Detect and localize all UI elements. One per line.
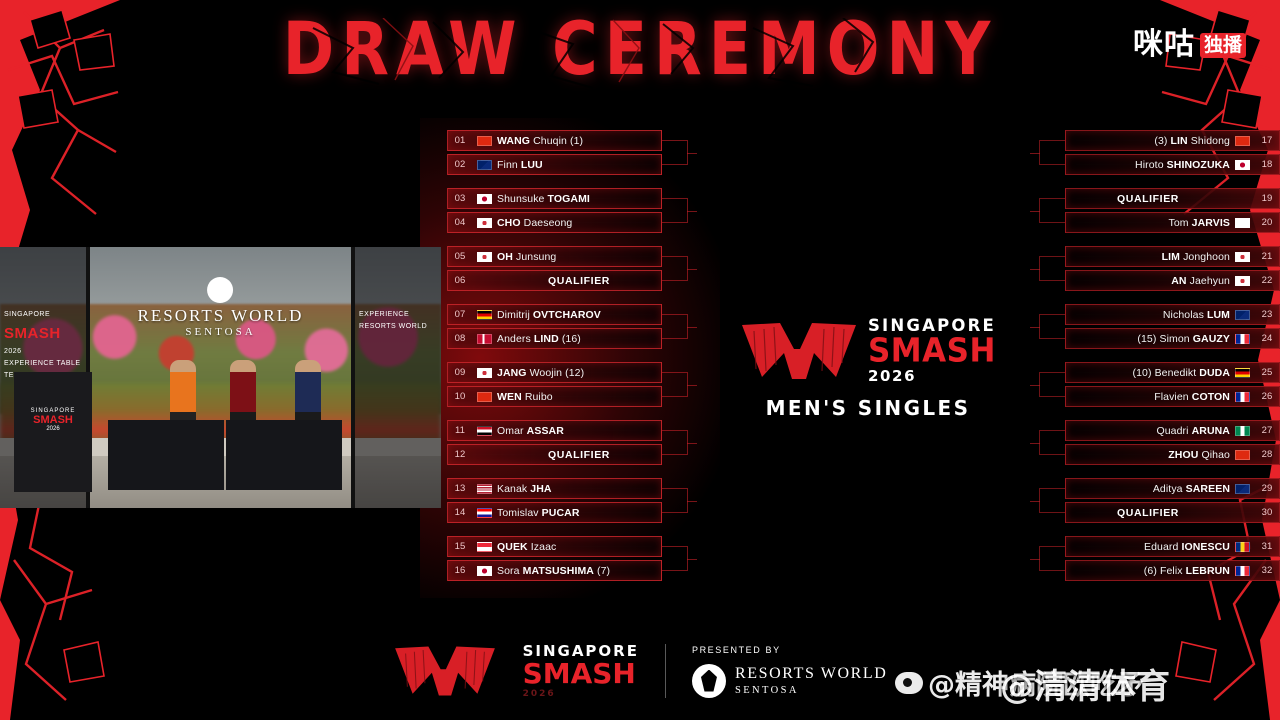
video-right-banner: EXPERIENCE RESORTS WORLD	[351, 247, 441, 508]
flag-icon	[1235, 276, 1250, 286]
flag-icon	[477, 194, 492, 204]
bracket-entry-name: Tom JARVIS	[1066, 217, 1230, 229]
flag-icon	[477, 252, 492, 262]
bracket-entry[interactable]: 15QUEK Izaac	[447, 536, 662, 557]
bracket-connector	[1039, 198, 1065, 223]
bracket-entry-name: Finn LUU	[497, 159, 661, 171]
bracket-entry-number: 10	[448, 391, 472, 402]
bracket-entry[interactable]: 06QUALIFIER	[447, 270, 662, 291]
bracket-entry-name: Nicholas LUM	[1066, 309, 1230, 321]
bracket-connector	[662, 488, 688, 513]
bracket-entry[interactable]: 29Aditya SAREEN	[1065, 478, 1280, 499]
bracket-pair: 21LIM Jonghoon22AN Jaehyun	[1065, 246, 1280, 291]
bracket-pair: 13Kanak JHA14Tomislav PUCAR	[447, 478, 662, 523]
bracket-pair: 03Shunsuke TOGAMI04CHO Daeseong	[447, 188, 662, 233]
smash-wing-mark-icon	[740, 319, 858, 383]
bracket-pair: 07Dimitrij OVTCHAROV08Anders LIND (16)	[447, 304, 662, 349]
bracket-entry-number: 15	[448, 541, 472, 552]
bracket-entry-number: 02	[448, 159, 472, 170]
bracket-entry[interactable]: 25(10) Benedikt DUDA	[1065, 362, 1280, 383]
bracket-entry-name: (15) Simon GAUZY	[1066, 333, 1230, 345]
bracket-entry[interactable]: 26Flavien COTON	[1065, 386, 1280, 407]
flag-icon	[1235, 252, 1250, 262]
bracket-entry-name: (10) Benedikt DUDA	[1066, 367, 1230, 379]
flag-icon	[477, 542, 492, 552]
flag-icon	[477, 218, 492, 228]
bracket-connector	[662, 256, 688, 281]
flag-icon	[1235, 136, 1250, 146]
video-backdrop-brand-line1: RESORTS WORLD	[138, 306, 304, 326]
bracket-entry[interactable]: 18Hiroto SHINOZUKA	[1065, 154, 1280, 175]
video-backdrop-brand-line2: SENTOSA	[138, 326, 304, 338]
bracket-connector-stub	[1030, 211, 1040, 212]
bracket-pair: 17(3) LIN Shidong18Hiroto SHINOZUKA	[1065, 130, 1280, 175]
flag-icon	[1235, 542, 1250, 552]
bracket-entry-number: 25	[1255, 367, 1279, 378]
footer-divider	[665, 644, 666, 698]
bracket-entry[interactable]: 16Sora MATSUSHIMA (7)	[447, 560, 662, 581]
bracket-entry-number: 23	[1255, 309, 1279, 320]
bracket-entry-name: QUEK Izaac	[497, 541, 661, 553]
bracket-connector	[1039, 314, 1065, 339]
bracket-connector	[1039, 488, 1065, 513]
bracket-entry-number: 21	[1255, 251, 1279, 262]
bracket-pair: 09JANG Woojin (12)10WEN Ruibo	[447, 362, 662, 407]
bracket-connector-stub	[687, 443, 697, 444]
bracket-entry-number: 24	[1255, 333, 1279, 344]
event-category-label: MEN'S SINGLES	[728, 396, 1008, 420]
flag-icon	[477, 426, 492, 436]
bracket-entry[interactable]: 09JANG Woojin (12)	[447, 362, 662, 383]
bracket-entry-name: Anders LIND (16)	[497, 333, 661, 345]
bracket-entry-number: 32	[1255, 565, 1279, 576]
bracket-entry[interactable]: 10WEN Ruibo	[447, 386, 662, 407]
bracket-connector	[662, 198, 688, 223]
bracket-connector	[662, 372, 688, 397]
bracket-entry[interactable]: 31Eduard IONESCU	[1065, 536, 1280, 557]
bracket-entry-name: Flavien COTON	[1066, 391, 1230, 403]
bracket-entry[interactable]: 11Omar ASSAR	[447, 420, 662, 441]
footer-brand-year: 2026	[523, 690, 639, 699]
bracket-entry[interactable]: 07Dimitrij OVTCHAROV	[447, 304, 662, 325]
bracket-connector-stub	[1030, 327, 1040, 328]
bracket-connector-stub	[1030, 385, 1040, 386]
bracket-pair: 27Quadri ARUNA28ZHOU Qihao	[1065, 420, 1280, 465]
resorts-world-icon	[692, 664, 726, 698]
bracket-entry[interactable]: 03Shunsuke TOGAMI	[447, 188, 662, 209]
bracket-entry-name: QUALIFIER	[497, 275, 661, 287]
presented-by-label: PRESENTED BY	[692, 645, 887, 655]
flag-icon	[477, 368, 492, 378]
flag-icon	[1235, 392, 1250, 402]
flag-icon	[1235, 218, 1250, 228]
bracket-entry[interactable]: 17(3) LIN Shidong	[1065, 130, 1280, 151]
bracket-connector-stub	[687, 327, 697, 328]
bracket-entry[interactable]: 12QUALIFIER	[447, 444, 662, 465]
page-title: DRAW CEREMONY	[283, 12, 998, 85]
weibo-icon	[895, 672, 923, 694]
live-video-inset[interactable]: RESORTS WORLD SENTOSA SINGAPORE SMASH 20…	[0, 247, 441, 508]
bracket-entry-number: 20	[1255, 217, 1279, 228]
bracket-pair: 31Eduard IONESCU32(6) Felix LEBRUN	[1065, 536, 1280, 581]
bracket-entry-number: 09	[448, 367, 472, 378]
bracket-entry-number: 11	[448, 425, 472, 436]
bracket-entry-name: CHO Daeseong	[497, 217, 661, 229]
bracket-entry-name: QUALIFIER	[1066, 193, 1230, 205]
flag-icon	[1235, 566, 1250, 576]
flag-icon	[1235, 334, 1250, 344]
bracket-entry[interactable]: 08Anders LIND (16)	[447, 328, 662, 349]
bracket-entry[interactable]: 04CHO Daeseong	[447, 212, 662, 233]
bracket-connector-stub	[1030, 153, 1040, 154]
footer-brand-words: SINGAPORE SMASH 2026	[523, 644, 639, 699]
bracket-entry-name: AN Jaehyun	[1066, 275, 1230, 287]
footer-smash-wing-icon	[393, 643, 497, 699]
bracket-entry-number: 04	[448, 217, 472, 228]
flag-icon	[1235, 426, 1250, 436]
bracket-entry-name: Dimitrij OVTCHAROV	[497, 309, 661, 321]
sponsor-line1: RESORTS WORLD	[735, 665, 887, 683]
bracket-entry-number: 31	[1255, 541, 1279, 552]
bracket-entry-name: WEN Ruibo	[497, 391, 661, 403]
broadcaster-logo: 咪咕 独播	[1133, 30, 1246, 60]
bracket-connector-stub	[687, 269, 697, 270]
bracket-entry-name: Hiroto SHINOZUKA	[1066, 159, 1230, 171]
bracket-entry-name: Shunsuke TOGAMI	[497, 193, 661, 205]
footer-sponsor-block: PRESENTED BY RESORTS WORLD SENTOSA	[692, 645, 887, 698]
bracket-entry[interactable]: 32(6) Felix LEBRUN	[1065, 560, 1280, 581]
broadcaster-exclusive-badge: 独播	[1200, 33, 1246, 58]
bracket-entry[interactable]: 28ZHOU Qihao	[1065, 444, 1280, 465]
video-right-banner-text: EXPERIENCE RESORTS WORLD	[355, 247, 441, 333]
bracket-pair: 15QUEK Izaac16Sora MATSUSHIMA (7)	[447, 536, 662, 581]
broadcaster-name: 咪咕	[1133, 30, 1195, 60]
bracket-entry-number: 07	[448, 309, 472, 320]
video-left-banner-line1: SINGAPORE	[4, 309, 82, 321]
bracket-entry-number: 27	[1255, 425, 1279, 436]
flag-icon	[477, 566, 492, 576]
bracket-connector	[662, 430, 688, 455]
bracket-entry[interactable]: 01WANG Chuqin (1)	[447, 130, 662, 151]
bracket-entry[interactable]: 23Nicholas LUM	[1065, 304, 1280, 325]
bracket-entry-name: JANG Woojin (12)	[497, 367, 661, 379]
bracket-entry-number: 14	[448, 507, 472, 518]
bracket-pair: 19QUALIFIER20Tom JARVIS	[1065, 188, 1280, 233]
bracket-entry-number: 08	[448, 333, 472, 344]
center-logo-year: 2026	[868, 369, 996, 384]
flag-icon	[1235, 160, 1250, 170]
center-event-logo: SINGAPORE SMASH 2026 MEN'S SINGLES	[728, 318, 1008, 420]
bracket-entry[interactable]: 24(15) Simon GAUZY	[1065, 328, 1280, 349]
bracket-side-left: 01WANG Chuqin (1)02Finn LUU03Shunsuke TO…	[447, 130, 662, 584]
bracket-entry[interactable]: 30QUALIFIER	[1065, 502, 1280, 523]
flag-icon	[477, 508, 492, 518]
center-logo-line2: SMASH	[868, 335, 996, 368]
center-logo-words: SINGAPORE SMASH 2026	[868, 318, 996, 384]
flag-icon	[1235, 310, 1250, 320]
bracket-entry[interactable]: 13Kanak JHA	[447, 478, 662, 499]
bracket-entry-number: 01	[448, 135, 472, 146]
bracket-entry-name: QUALIFIER	[1066, 507, 1230, 519]
bracket-entry-name: Kanak JHA	[497, 483, 661, 495]
flag-icon	[477, 392, 492, 402]
bracket-entry[interactable]: 27Quadri ARUNA	[1065, 420, 1280, 441]
bracket-entry-number: 05	[448, 251, 472, 262]
bracket-connector-stub	[687, 385, 697, 386]
bracket-pair: 29Aditya SAREEN30QUALIFIER	[1065, 478, 1280, 523]
bracket-entry-name: Omar ASSAR	[497, 425, 661, 437]
bracket-entry-name: OH Junsung	[497, 251, 661, 263]
bracket-entry-number: 22	[1255, 275, 1279, 286]
bracket-connector-stub	[1030, 559, 1040, 560]
bracket-connector	[1039, 546, 1065, 571]
flag-icon	[1235, 368, 1250, 378]
bracket-entry-number: 03	[448, 193, 472, 204]
video-table-1	[108, 420, 224, 490]
center-logo-top: SINGAPORE SMASH 2026	[728, 318, 1008, 384]
page-title-area: DRAW CEREMONY	[0, 18, 1280, 80]
bracket-connector	[1039, 140, 1065, 165]
bracket-pair: 23Nicholas LUM24(15) Simon GAUZY	[1065, 304, 1280, 349]
bracket-entry-number: 13	[448, 483, 472, 494]
bracket-entry[interactable]: 05OH Junsung	[447, 246, 662, 267]
bracket-entry-name: (3) LIN Shidong	[1066, 135, 1230, 147]
bracket-connector-stub	[687, 211, 697, 212]
bracket-entry[interactable]: 19QUALIFIER	[1065, 188, 1280, 209]
flag-icon	[477, 160, 492, 170]
flag-icon	[477, 484, 492, 494]
bracket-pair: 11Omar ASSAR12QUALIFIER	[447, 420, 662, 465]
bracket-connector-stub	[687, 153, 697, 154]
bracket-entry-name: ZHOU Qihao	[1066, 449, 1230, 461]
bracket-connector	[662, 314, 688, 339]
bracket-connector-stub	[687, 559, 697, 560]
video-podium: SINGAPORE SMASH 2026	[14, 372, 92, 492]
bracket-entry-name: Tomislav PUCAR	[497, 507, 661, 519]
bracket-entry-name: Eduard IONESCU	[1066, 541, 1230, 553]
resorts-world-mark-icon	[207, 277, 233, 303]
bracket-pair: 05OH Junsung06QUALIFIER	[447, 246, 662, 291]
bracket-entry[interactable]: 14Tomislav PUCAR	[447, 502, 662, 523]
bracket-entry-name: QUALIFIER	[497, 449, 661, 461]
bracket-connector-stub	[1030, 501, 1040, 502]
bracket-side-right: 17(3) LIN Shidong18Hiroto SHINOZUKA19QUA…	[1065, 130, 1280, 584]
bracket-entry-number: 12	[448, 449, 472, 460]
bracket-connector	[662, 546, 688, 571]
video-podium-line2: SMASH	[14, 414, 92, 426]
bracket-entry[interactable]: 02Finn LUU	[447, 154, 662, 175]
flag-icon	[477, 310, 492, 320]
sponsor-line2: SENTOSA	[735, 685, 887, 696]
bracket-connector	[1039, 372, 1065, 397]
flag-icon	[477, 136, 492, 146]
video-table-2	[226, 420, 342, 490]
bracket-entry-number: 06	[448, 275, 472, 286]
flag-icon	[1235, 484, 1250, 494]
flag-icon	[477, 334, 492, 344]
bracket-entry-number: 19	[1255, 193, 1279, 204]
bracket-pair: 25(10) Benedikt DUDA26Flavien COTON	[1065, 362, 1280, 407]
bracket-entry-number: 16	[448, 565, 472, 576]
bracket-entry[interactable]: 20Tom JARVIS	[1065, 212, 1280, 233]
bracket-entry-name: WANG Chuqin (1)	[497, 135, 661, 147]
sponsor-logo: RESORTS WORLD SENTOSA	[692, 664, 887, 698]
bracket-connector	[1039, 430, 1065, 455]
toutiao-watermark: @清清体育	[1000, 659, 1170, 708]
bracket-entry-number: 28	[1255, 449, 1279, 460]
video-backdrop-sponsor-logo: RESORTS WORLD SENTOSA	[138, 277, 304, 338]
bracket-entry-name: LIM Jonghoon	[1066, 251, 1230, 263]
bracket-entry-number: 18	[1255, 159, 1279, 170]
footer-brand-line2: SMASH	[523, 660, 639, 688]
bracket-connector-stub	[1030, 443, 1040, 444]
bracket-entry-number: 30	[1255, 507, 1279, 518]
bracket-connector-stub	[687, 501, 697, 502]
bracket-connector	[1039, 256, 1065, 281]
bracket-entry-name: Aditya SAREEN	[1066, 483, 1230, 495]
bracket-pair: 01WANG Chuqin (1)02Finn LUU	[447, 130, 662, 175]
bracket-entry-name: Sora MATSUSHIMA (7)	[497, 565, 661, 577]
video-podium-line3: 2026	[14, 426, 92, 432]
bracket-entry[interactable]: 22AN Jaehyun	[1065, 270, 1280, 291]
bracket-connector-stub	[1030, 269, 1040, 270]
bracket-entry-name: (6) Felix LEBRUN	[1066, 565, 1230, 577]
bracket-entry-number: 17	[1255, 135, 1279, 146]
bracket-entry-number: 26	[1255, 391, 1279, 402]
bracket-connector	[662, 140, 688, 165]
flag-icon	[1235, 450, 1250, 460]
video-left-banner-text: SINGAPORE SMASH 2026 EXPERIENCE TABLE TE…	[0, 247, 86, 382]
bracket-entry-name: Quadri ARUNA	[1066, 425, 1230, 437]
bracket-entry[interactable]: 21LIM Jonghoon	[1065, 246, 1280, 267]
video-left-banner-line3: 2026	[4, 346, 82, 358]
video-left-banner-line2: SMASH	[4, 321, 82, 347]
bracket-entry-number: 29	[1255, 483, 1279, 494]
